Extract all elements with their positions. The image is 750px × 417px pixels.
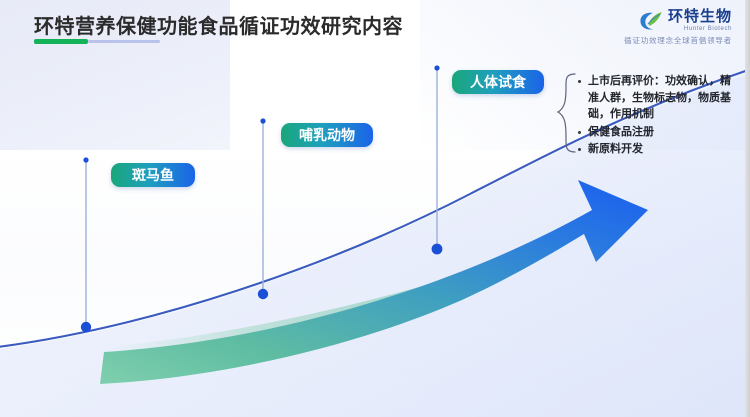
list-item: 上市后再评价：功效确认，精准人群，生物标志物，物质基础，作用机制 [578, 73, 738, 123]
title-underline-blue [88, 40, 160, 43]
list-item: 保健食品注册 [578, 124, 738, 141]
list-item: 体内功效与安全性评价 [112, 227, 196, 259]
stage-card-zebrafish[interactable]: 斑马鱼 原料配方工艺筛选与优化 体内功效与安全性评价 高通量筛选 机制研究 [102, 163, 206, 309]
slide-canvas: 环特营养保健功能食品循证功效研究内容 环特生物 Hunter Biotech 循… [0, 0, 750, 417]
brand-logo: 环特生物 Hunter Biotech 循证功效理念全球首倡领导者 [624, 9, 732, 46]
list-item: 新原料开发 [578, 141, 738, 158]
stage-card-human-trial[interactable]: 人体试食 人体临床试验（IIT研究） 口服美容产品试食研究 消费者体感问卷调查 [441, 70, 555, 213]
logo-name-en: Hunter Biotech [668, 26, 732, 32]
stage-card-title: 哺乳动物 [281, 123, 373, 147]
stage-card-title: 斑马鱼 [111, 163, 195, 187]
list-item: 快检筛选 [282, 211, 372, 228]
page-title: 环特营养保健功能食品循证功效研究内容 [34, 10, 403, 39]
list-item: 机制研究 [112, 281, 196, 297]
list-item: 好吸收评价 [282, 191, 372, 208]
list-item: 体质医学研究 [282, 172, 372, 189]
leaf-icon [638, 10, 664, 32]
title-underline-green [34, 39, 88, 44]
stage-card-body: 人体临床试验（IIT研究） 口服美容产品试食研究 消费者体感问卷调查 [441, 87, 555, 213]
stage-card-body: 注册备案 体质医学研究 好吸收评价 快检筛选 功效与安全评价 [272, 140, 382, 259]
logo-name-cn: 环特生物 [668, 9, 732, 24]
list-item: 注册备案 [282, 152, 372, 169]
stage-card-title: 人体试食 [452, 70, 544, 94]
list-item: 原料配方工艺筛选与优化 [112, 192, 196, 224]
list-item: 功效与安全评价 [282, 230, 372, 247]
list-item: 高通量筛选 [112, 262, 196, 278]
outcome-list: 上市后再评价：功效确认，精准人群，生物标志物，物质基础，作用机制 保健食品注册 … [578, 73, 738, 159]
logo-tagline: 循证功效理念全球首倡领导者 [624, 35, 732, 46]
list-item: 人体临床试验（IIT研究） [451, 99, 545, 131]
slide-right-edge [745, 0, 750, 417]
list-item: 消费者体感问卷调查 [451, 169, 545, 201]
connector-top-dot-2 [260, 118, 265, 123]
stage-card-mammal[interactable]: 哺乳动物 注册备案 体质医学研究 好吸收评价 快检筛选 功效与安全评价 [272, 123, 382, 259]
title-underline [34, 39, 160, 44]
list-item: 口服美容产品试食研究 [451, 134, 545, 166]
stage-card-body: 原料配方工艺筛选与优化 体内功效与安全性评价 高通量筛选 机制研究 [102, 180, 206, 309]
